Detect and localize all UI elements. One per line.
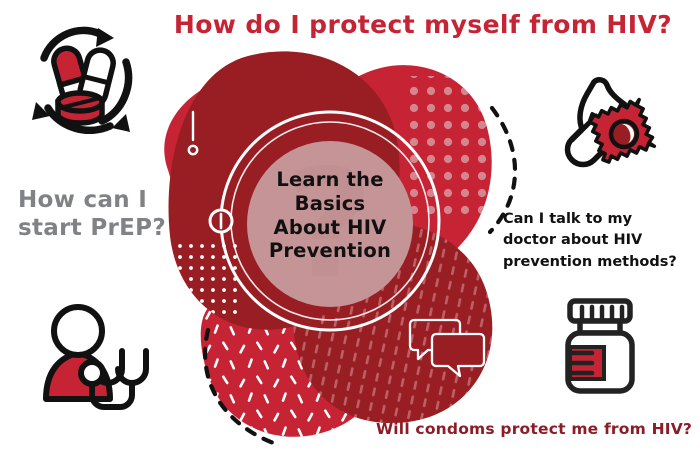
question-condoms: Will condoms protect me from HIV? — [376, 420, 686, 438]
question-prep: How can I start PrEP? — [18, 186, 183, 242]
dot-pattern-white — [178, 244, 240, 316]
center-label-line-2: Basics — [245, 192, 415, 216]
center-label-line-3: About HIV — [245, 216, 415, 240]
pills-recycle-icon — [14, 16, 140, 140]
doctor-stethoscope-icon — [26, 303, 156, 413]
question-prep-line-2: start PrEP? — [18, 214, 183, 242]
page-title: How do I protect myself from HIV? — [168, 10, 678, 39]
dot-pattern-pink — [410, 76, 520, 216]
center-label: Learn the Basics About HIV Prevention — [245, 168, 415, 263]
center-label-line-1: Learn the — [245, 168, 415, 192]
question-doctor-line-2: doctor about HIV — [503, 230, 683, 251]
question-doctor-line-3: prevention methods? — [503, 252, 683, 273]
question-prep-line-1: How can I — [18, 186, 183, 214]
condom-icon — [548, 72, 664, 178]
question-doctor: Can I talk to my doctor about HIV preven… — [503, 209, 683, 273]
infographic-canvas: ? How do I protect myself from HIV? Lear… — [0, 0, 700, 460]
center-label-line-4: Prevention — [245, 239, 415, 263]
medicine-bottle-icon — [556, 295, 660, 401]
question-doctor-line-1: Can I talk to my — [503, 209, 683, 230]
